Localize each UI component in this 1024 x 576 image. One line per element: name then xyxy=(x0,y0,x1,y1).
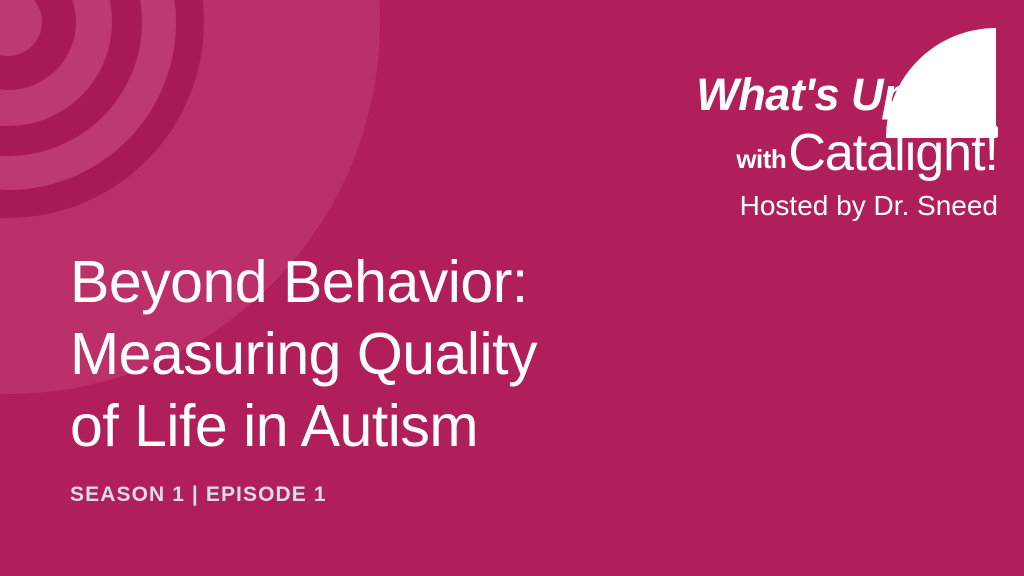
logo-line-with-catalight: with Catalight! xyxy=(736,127,998,179)
logo-word-catalight: Catalight! xyxy=(788,127,998,179)
page-title: Beyond Behavior: Measuring Quality of Li… xyxy=(70,246,730,462)
logo-line-whats-up: What's Up xyxy=(696,72,910,117)
logo-line-host: Hosted by Dr. Sneed xyxy=(740,192,998,220)
logo-word-with: with xyxy=(736,146,786,172)
season-episode-label: SEASON 1 | EPISODE 1 xyxy=(70,484,730,505)
episode-title-card: What's Up with Catalight! Hosted by Dr. … xyxy=(0,0,1024,576)
episode-block: Beyond Behavior: Measuring Quality of Li… xyxy=(70,246,730,505)
brand-logo-lockup: What's Up with Catalight! Hosted by Dr. … xyxy=(668,26,998,216)
